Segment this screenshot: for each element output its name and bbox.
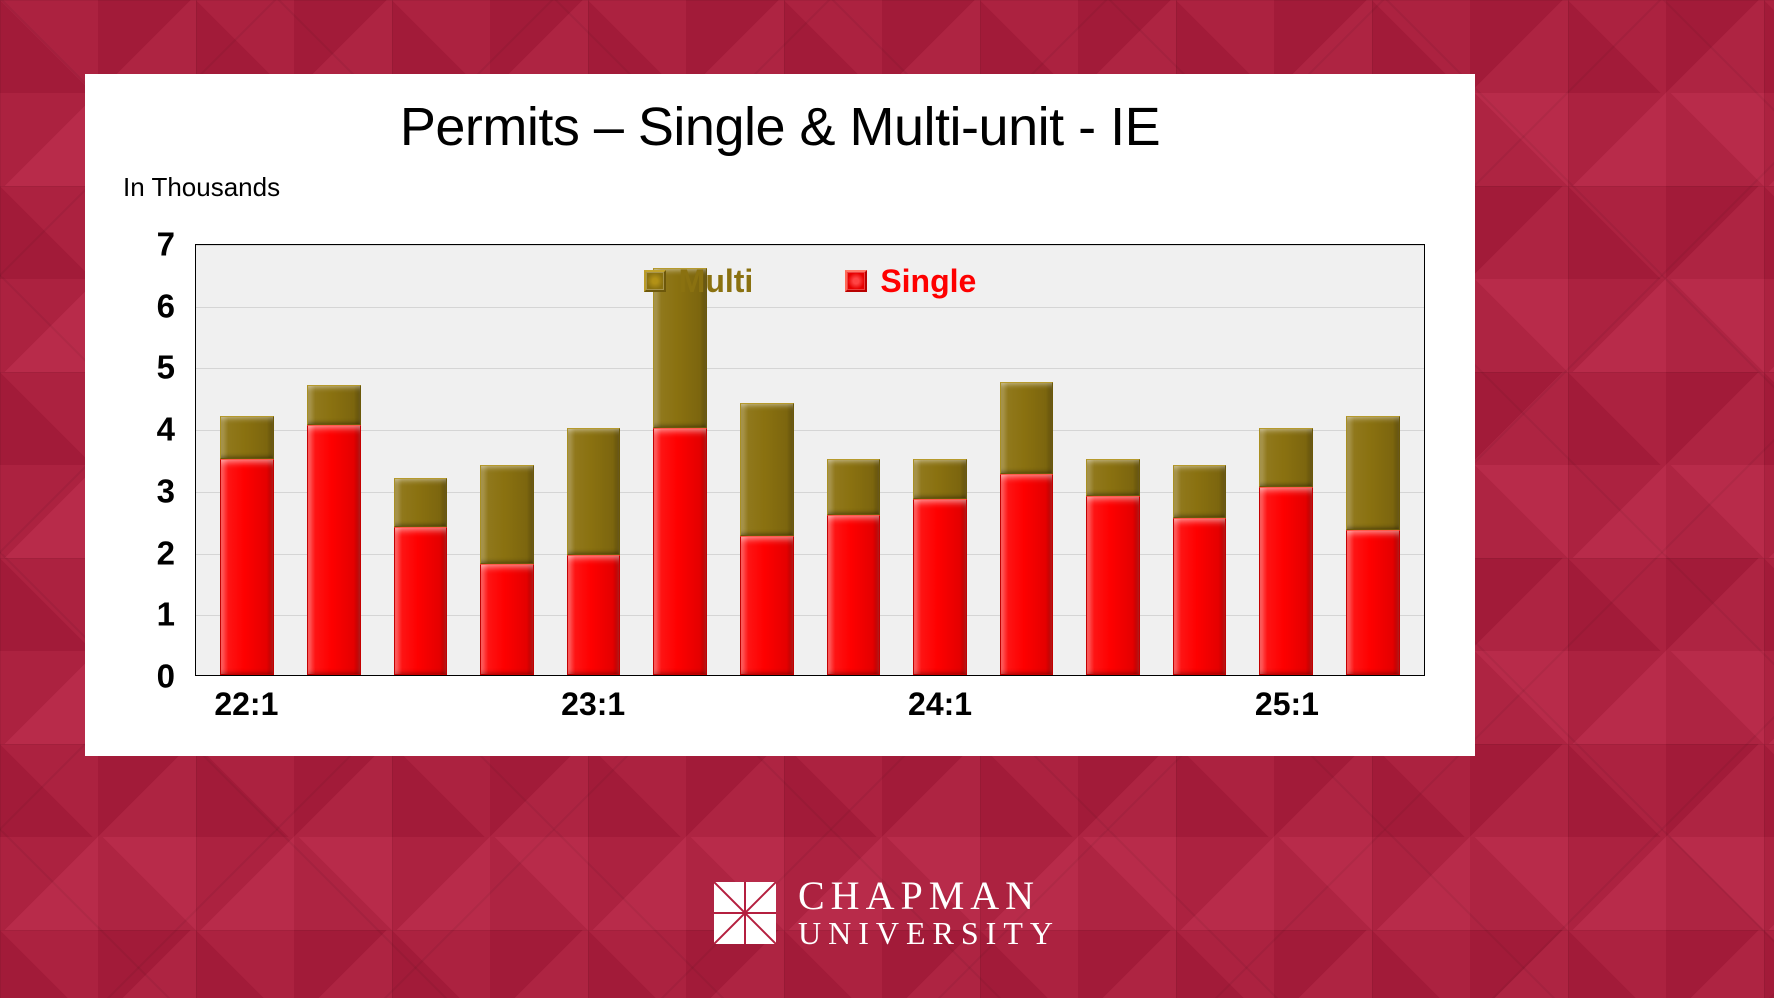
bar-segment-multi[interactable] xyxy=(913,459,967,499)
y-axis-tick-label: 4 xyxy=(157,413,175,446)
stacked-bar[interactable] xyxy=(480,465,534,675)
bar-segment-single[interactable] xyxy=(567,555,621,675)
stacked-bar[interactable] xyxy=(740,403,794,675)
x-axis: 22:123:124:125:1 xyxy=(195,688,1425,738)
stacked-bar[interactable] xyxy=(1000,382,1054,675)
stacked-bar[interactable] xyxy=(913,459,967,675)
logo-wordmark: CHAPMAN UNIVERSITY xyxy=(798,876,1060,949)
bar-segment-single[interactable] xyxy=(1086,496,1140,675)
y-axis-tick-label: 1 xyxy=(157,598,175,631)
bar-segment-multi[interactable] xyxy=(480,465,534,564)
chapman-university-logo: CHAPMAN UNIVERSITY xyxy=(0,876,1774,949)
stacked-bar[interactable] xyxy=(653,268,707,675)
stacked-bar[interactable] xyxy=(1173,465,1227,675)
page-title: Permits – Single & Multi-unit - IE xyxy=(85,96,1475,158)
plot-area: MultiSingle xyxy=(195,244,1425,676)
stacked-bar[interactable] xyxy=(1086,459,1140,675)
bar-slot xyxy=(377,245,464,675)
chapman-pinwheel-icon xyxy=(714,882,776,944)
bar-slot xyxy=(637,245,724,675)
bar-segment-single[interactable] xyxy=(740,536,794,675)
bar-slot xyxy=(1156,245,1243,675)
bar-segment-single[interactable] xyxy=(1173,518,1227,675)
y-axis-tick-label: 2 xyxy=(157,536,175,569)
y-axis: 01234567 xyxy=(115,244,187,676)
bar-segment-multi[interactable] xyxy=(567,428,621,555)
stacked-bar[interactable] xyxy=(567,428,621,675)
y-axis-tick-label: 6 xyxy=(157,289,175,322)
bar-segment-multi[interactable] xyxy=(653,268,707,428)
bar-segment-single[interactable] xyxy=(1259,487,1313,675)
bar-segment-multi[interactable] xyxy=(1000,382,1054,475)
y-axis-tick-label: 0 xyxy=(157,660,175,693)
bar-segment-single[interactable] xyxy=(307,425,361,675)
bar-segment-multi[interactable] xyxy=(740,403,794,536)
y-axis-tick-label: 7 xyxy=(157,228,175,261)
y-axis-tick-label: 3 xyxy=(157,474,175,507)
bar-segment-single[interactable] xyxy=(913,499,967,675)
bar-segment-single[interactable] xyxy=(220,459,274,675)
bar-segment-multi[interactable] xyxy=(394,478,448,527)
stacked-bar[interactable] xyxy=(307,385,361,675)
logo-line-university: UNIVERSITY xyxy=(798,917,1060,950)
bar-slot xyxy=(464,245,551,675)
bar-segment-single[interactable] xyxy=(1346,530,1400,675)
bar-slot xyxy=(291,245,378,675)
y-axis-tick-label: 5 xyxy=(157,351,175,384)
stacked-bar[interactable] xyxy=(1346,416,1400,675)
bar-slot xyxy=(983,245,1070,675)
bar-segment-single[interactable] xyxy=(480,564,534,675)
bar-segment-multi[interactable] xyxy=(307,385,361,425)
bar-segment-single[interactable] xyxy=(394,527,448,675)
bar-slot xyxy=(1243,245,1330,675)
bar-slot xyxy=(1330,245,1417,675)
slide-canvas: Permits – Single & Multi-unit - IE In Th… xyxy=(85,74,1475,756)
bar-segment-single[interactable] xyxy=(1000,474,1054,675)
bar-series-container xyxy=(196,245,1424,675)
bar-slot xyxy=(550,245,637,675)
x-axis-tick-label: 25:1 xyxy=(1255,688,1319,720)
bar-segment-multi[interactable] xyxy=(1086,459,1140,496)
bar-segment-multi[interactable] xyxy=(1259,428,1313,487)
bar-slot xyxy=(897,245,984,675)
bar-segment-multi[interactable] xyxy=(827,459,881,515)
logo-line-chapman: CHAPMAN xyxy=(798,876,1060,917)
stacked-bar[interactable] xyxy=(394,478,448,675)
bar-slot xyxy=(1070,245,1157,675)
x-axis-tick-label: 24:1 xyxy=(908,688,972,720)
bar-segment-multi[interactable] xyxy=(1346,416,1400,530)
stacked-bar[interactable] xyxy=(1259,428,1313,675)
bar-slot xyxy=(204,245,291,675)
bar-segment-single[interactable] xyxy=(653,428,707,675)
x-axis-tick-label: 22:1 xyxy=(214,688,278,720)
x-axis-tick-label: 23:1 xyxy=(561,688,625,720)
axis-unit-label: In Thousands xyxy=(123,172,280,203)
stacked-bar[interactable] xyxy=(827,459,881,675)
bar-slot xyxy=(723,245,810,675)
bar-segment-multi[interactable] xyxy=(1173,465,1227,517)
bar-slot xyxy=(810,245,897,675)
stacked-bar[interactable] xyxy=(220,416,274,675)
bar-segment-multi[interactable] xyxy=(220,416,274,459)
bar-segment-single[interactable] xyxy=(827,515,881,675)
